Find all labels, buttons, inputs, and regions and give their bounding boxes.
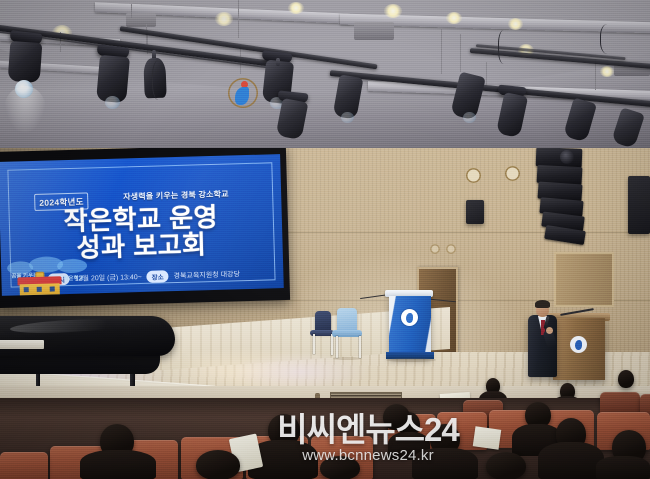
wall-emblem-icon bbox=[446, 244, 456, 254]
ceiling-hanger-rod bbox=[238, 0, 239, 38]
stage-side-door[interactable] bbox=[554, 252, 614, 307]
presenter-hair bbox=[535, 300, 550, 308]
ceiling-downlight bbox=[446, 12, 462, 24]
ceiling-downlight bbox=[600, 66, 614, 77]
lighting-cable bbox=[498, 30, 512, 64]
school-emblem bbox=[228, 78, 258, 108]
audience-head bbox=[196, 450, 240, 479]
ceiling-downlight bbox=[508, 18, 523, 30]
light-beam bbox=[4, 86, 46, 132]
podium-shadow bbox=[386, 358, 436, 362]
audience-shoulders bbox=[80, 450, 156, 479]
lighting-cable bbox=[600, 24, 618, 54]
audience-head bbox=[486, 452, 526, 479]
audience-seat[interactable] bbox=[0, 452, 48, 479]
stage-light-1 bbox=[8, 41, 43, 83]
podium-emblem-icon bbox=[401, 309, 418, 326]
ceiling-downlight bbox=[215, 12, 233, 26]
wall-emblem-icon bbox=[430, 244, 440, 254]
chair-leg bbox=[336, 336, 338, 358]
ceiling-hanger-rod bbox=[460, 34, 461, 72]
ceiling-hanger-rod bbox=[595, 60, 596, 90]
chair-leg bbox=[331, 334, 333, 355]
speaker-cone-icon bbox=[560, 150, 574, 164]
chair-shadow bbox=[333, 357, 361, 360]
chair-lightblue-back[interactable] bbox=[337, 308, 357, 332]
stage-light-yoke bbox=[276, 58, 280, 66]
audience-shoulders bbox=[538, 442, 604, 479]
mobile-podium[interactable] bbox=[389, 296, 431, 358]
ceiling-hanger-rod bbox=[441, 28, 442, 74]
audience-head bbox=[618, 370, 634, 388]
stage-light-lens-icon bbox=[105, 96, 120, 109]
projection-screen: 2024학년도 자생력을 키우는 경북 강소학교 작은학교 운영 성과 보고회 … bbox=[0, 154, 284, 296]
wall-speaker bbox=[466, 200, 484, 224]
ceiling-hanger-rod bbox=[131, 4, 132, 18]
audience-shoulders bbox=[412, 448, 478, 479]
chair-leg bbox=[359, 336, 361, 358]
screen-glare bbox=[0, 154, 284, 296]
presenter-hand bbox=[546, 327, 553, 334]
photo-canvas: 2024학년도 자생력을 키우는 경북 강소학교 작은학교 운영 성과 보고회 … bbox=[0, 0, 650, 479]
stage-light-lens-icon bbox=[341, 112, 354, 123]
wall-emblem-icon bbox=[505, 166, 520, 181]
piano-keyboard bbox=[0, 340, 44, 349]
projection-screen-frame: 2024학년도 자생력을 키우는 경북 강소학교 작은학교 운영 성과 보고회 … bbox=[0, 144, 290, 308]
audience-shoulders bbox=[596, 456, 650, 479]
stage-light-lens-icon bbox=[463, 112, 476, 123]
emblem-swoosh-icon bbox=[235, 87, 249, 105]
audience-head bbox=[383, 404, 410, 430]
lectern-emblem-icon bbox=[570, 336, 587, 353]
lighting-cable bbox=[152, 60, 168, 100]
wall-emblem-icon bbox=[466, 168, 481, 183]
wall-speaker bbox=[628, 176, 650, 234]
audience-head bbox=[320, 456, 360, 479]
chair-leg bbox=[313, 334, 315, 354]
audience-handout bbox=[473, 426, 502, 449]
ceiling-equipment-box bbox=[354, 22, 394, 40]
ceiling-downlight bbox=[384, 4, 402, 18]
ceiling-downlight bbox=[288, 2, 304, 14]
